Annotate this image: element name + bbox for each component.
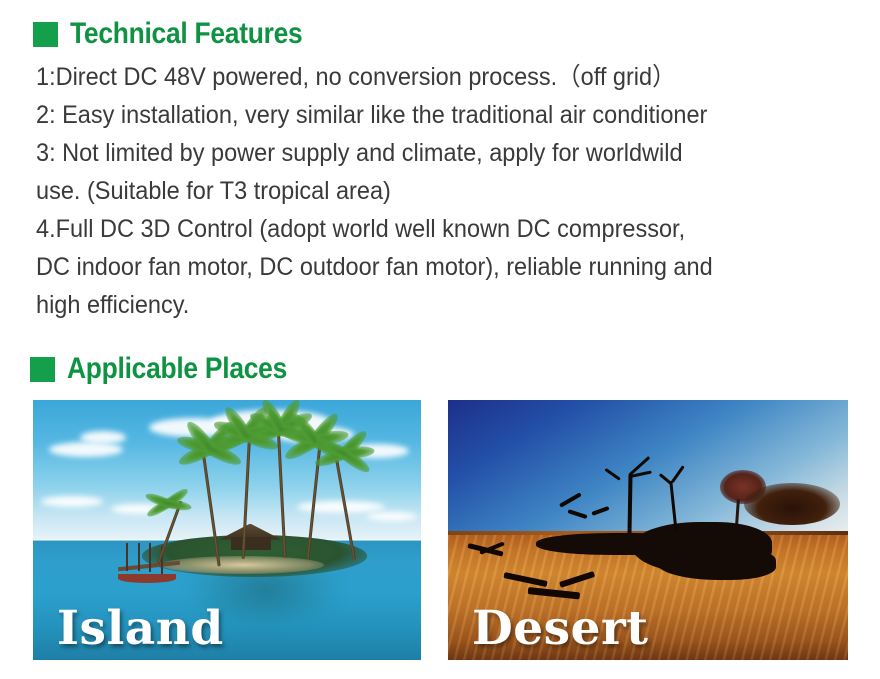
palm-trunk [276, 423, 286, 558]
dead-tree-shadow [656, 546, 776, 580]
palm-tree [149, 499, 189, 567]
desert-scene-image: Desert [448, 400, 848, 660]
feature-line: DC indoor fan motor, DC outdoor fan moto… [36, 248, 807, 286]
feature-line: 2: Easy installation, very similar like … [36, 96, 807, 134]
pier-post [126, 543, 128, 571]
technical-features-list: 1:Direct DC 48V powered, no conversion p… [36, 58, 856, 324]
section-heading-technical-features: Technical Features [33, 17, 334, 51]
pier-post [138, 543, 140, 571]
desert-bush [744, 483, 840, 525]
feature-line: 4.Full DC 3D Control (adopt world well k… [36, 210, 807, 248]
palm-trunk [200, 442, 220, 566]
feature-line: 1:Direct DC 48V powered, no conversion p… [36, 58, 807, 96]
palm-tree [324, 447, 364, 561]
green-square-bullet-icon [33, 22, 58, 47]
product-feature-page: Technical Features 1:Direct DC 48V power… [0, 0, 880, 679]
place-card-desert: Desert [448, 400, 848, 660]
cloud [367, 512, 417, 521]
place-card-island: Island [33, 400, 421, 660]
applicable-places-gallery: Island [33, 400, 848, 660]
cloud [49, 442, 123, 457]
place-caption-desert: Desert [472, 605, 649, 652]
feature-line: use. (Suitable for T3 tropical area) [36, 172, 807, 210]
section-heading-label: Technical Features [70, 17, 302, 51]
island-scene-image: Island [33, 400, 421, 660]
feature-line: 3: Not limited by power supply and clima… [36, 134, 807, 172]
place-caption-island: Island [57, 605, 224, 652]
cloud [80, 431, 126, 444]
section-heading-label: Applicable Places [67, 352, 287, 386]
section-heading-applicable-places: Applicable Places [30, 352, 317, 386]
palm-trunk [241, 429, 251, 559]
feature-line: high efficiency. [36, 286, 807, 324]
palm-trunk [307, 434, 323, 558]
green-square-bullet-icon [30, 357, 55, 382]
